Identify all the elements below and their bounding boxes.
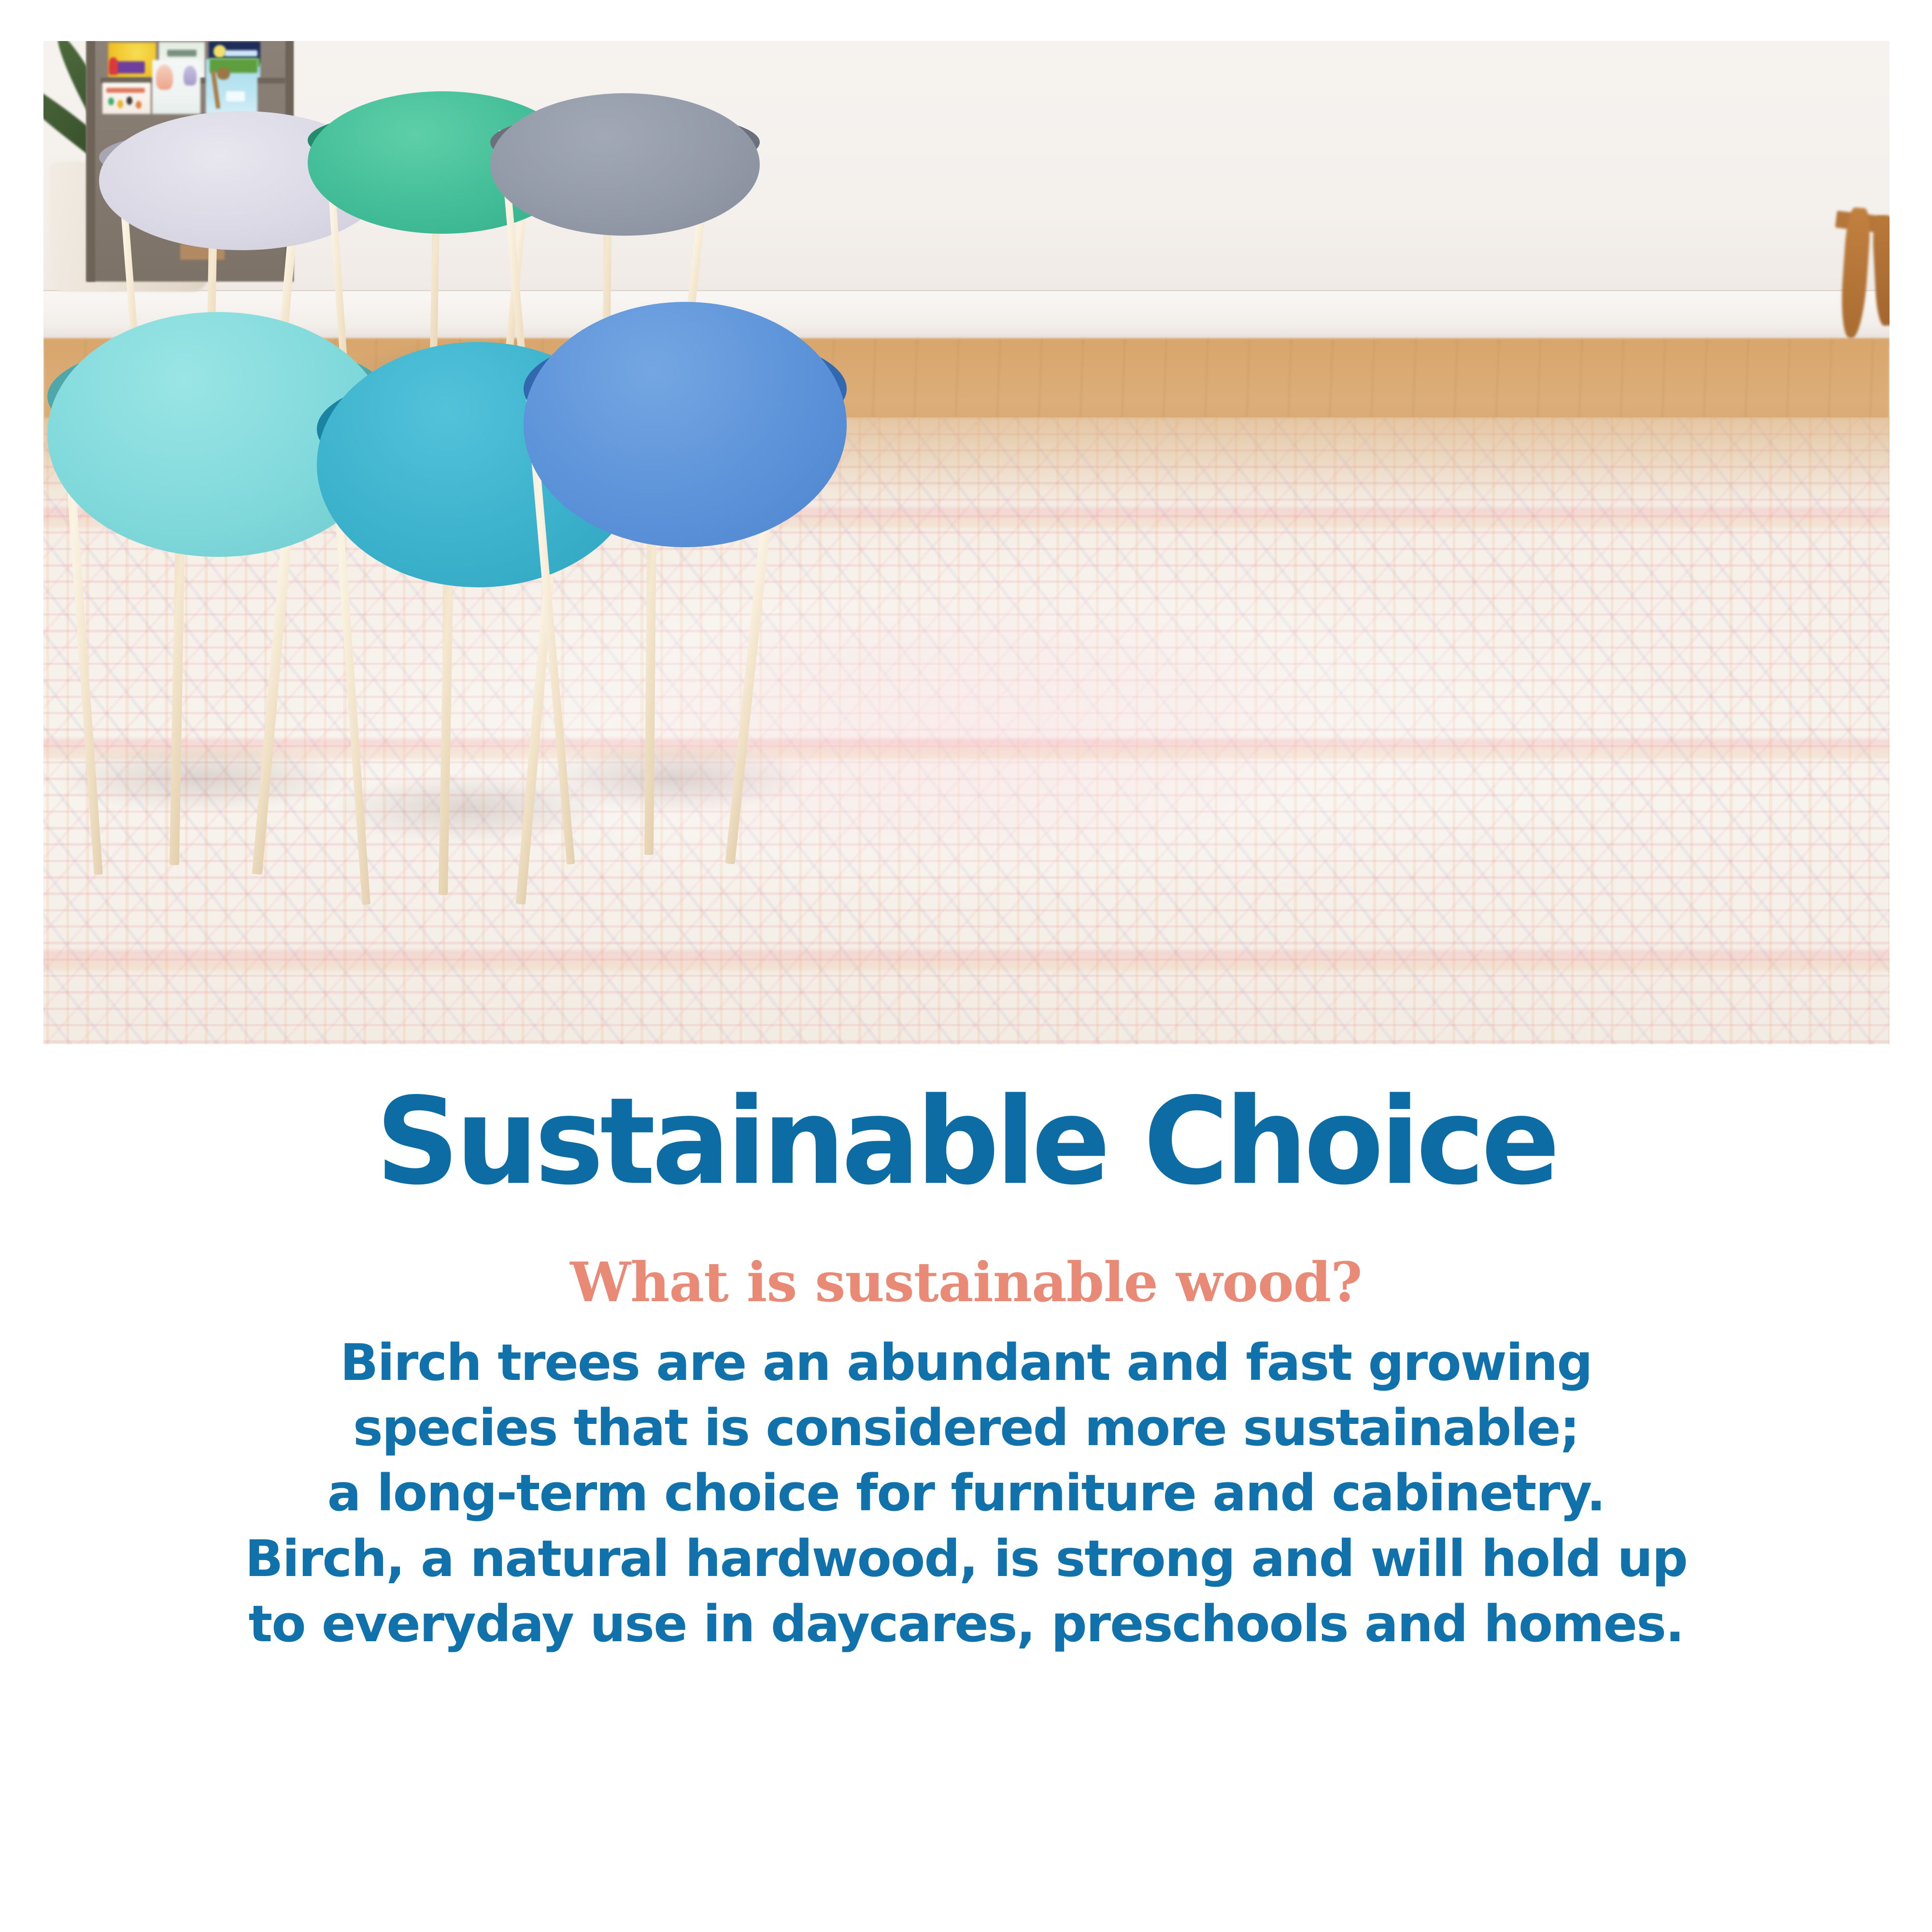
shelf-leg	[87, 41, 95, 282]
body-line: Birch, a natural hardwood, is strong and…	[0, 1526, 1932, 1591]
product-photo	[43, 41, 1889, 1044]
body-paragraph: Birch trees are an abundant and fast gro…	[0, 1330, 1932, 1657]
book-title-my	[226, 91, 244, 101]
body-line: to everyday use in daycares, preschools …	[0, 1591, 1932, 1657]
book-art-button	[117, 100, 123, 108]
stool-front-right	[524, 302, 847, 824]
stool-seat-gray	[490, 93, 760, 236]
body-line: a long-term choice for furniture and cab…	[0, 1461, 1932, 1526]
book-art-hot-air-balloon	[184, 66, 197, 86]
body-line: Birch trees are an abundant and fast gro…	[0, 1330, 1932, 1395]
body-line: species that is considered more sustaina…	[0, 1395, 1932, 1461]
page-title: Sustainable Choice	[29, 1082, 1903, 1202]
stool-seat-blue	[524, 302, 847, 547]
book-title-big	[115, 61, 145, 74]
book-art-hot-air-balloon	[156, 65, 172, 90]
book-title-goodnight	[225, 50, 258, 57]
book-art-balloon	[109, 57, 118, 75]
book-art-button	[127, 97, 132, 105]
book-title-little-legend	[167, 50, 197, 57]
book-art-nest	[217, 68, 230, 80]
book-title-buttons	[106, 88, 145, 93]
rug-border-band	[43, 950, 1889, 971]
text-content: Sustainable Choice What is sustainable w…	[0, 1082, 1932, 1657]
section-subheading: What is sustainable wood?	[0, 1256, 1932, 1310]
